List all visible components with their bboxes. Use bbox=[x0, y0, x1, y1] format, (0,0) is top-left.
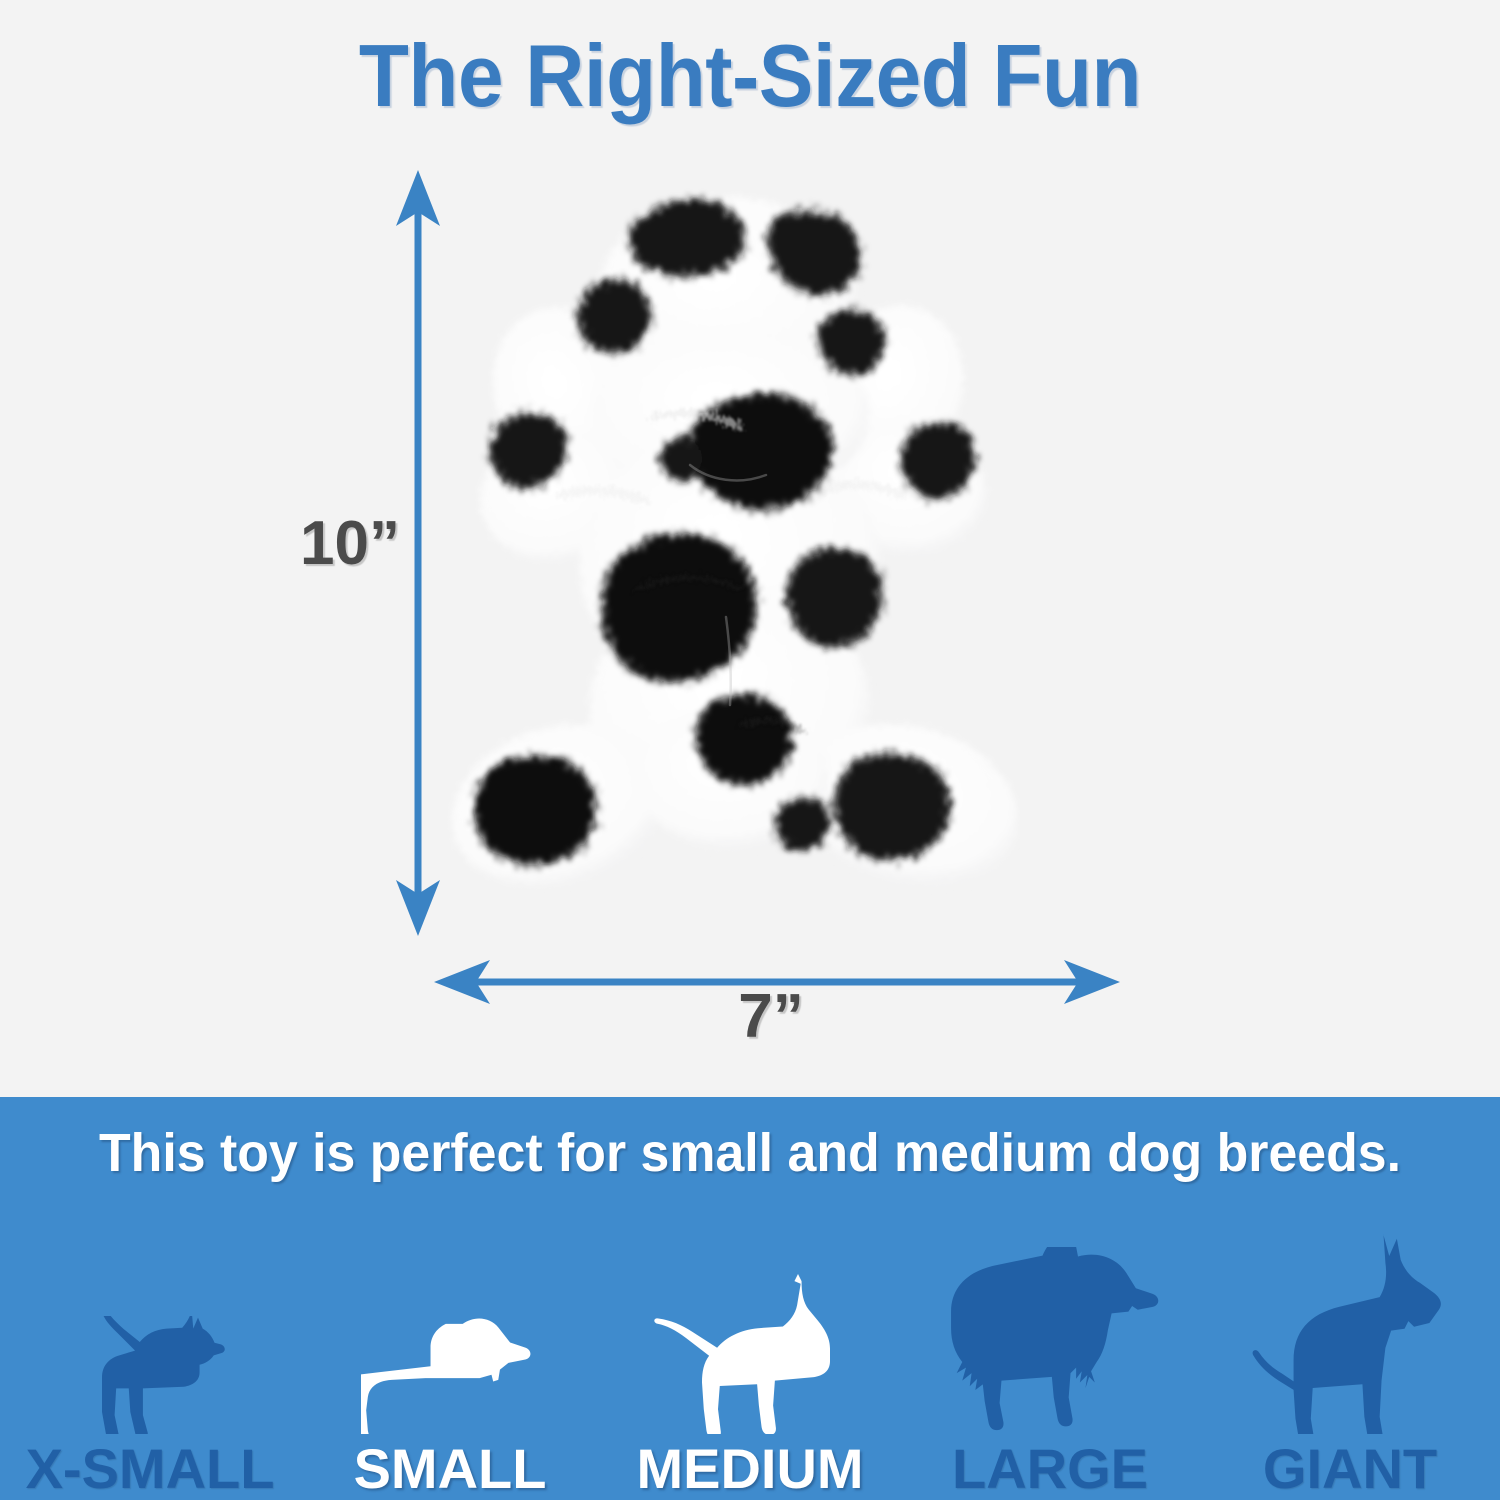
size-item-large[interactable]: LARGE bbox=[900, 1207, 1200, 1500]
banner-headline: This toy is perfect for small and medium… bbox=[30, 1123, 1470, 1183]
size-label-giant: GIANT bbox=[1263, 1438, 1437, 1500]
size-label-large: LARGE bbox=[952, 1438, 1148, 1500]
chihuahua-silhouette-icon bbox=[75, 1222, 225, 1434]
dog-size-scale: X-SMALL SMALL MEDIUM bbox=[0, 1207, 1500, 1500]
bull-terrier-silhouette-icon bbox=[652, 1222, 848, 1434]
size-compatibility-banner: This toy is perfect for small and medium… bbox=[0, 1097, 1500, 1500]
product-stage: The Right-Sized Fun bbox=[0, 0, 1500, 1097]
width-label-text: 7” bbox=[738, 982, 803, 1051]
size-item-medium[interactable]: MEDIUM bbox=[600, 1207, 900, 1500]
golden-retriever-silhouette-icon bbox=[938, 1222, 1162, 1434]
size-item-giant[interactable]: GIANT bbox=[1200, 1207, 1500, 1500]
size-item-small[interactable]: SMALL bbox=[300, 1207, 600, 1500]
size-label-medium: MEDIUM bbox=[636, 1438, 863, 1500]
dachshund-silhouette-icon bbox=[361, 1222, 539, 1434]
size-label-small: SMALL bbox=[354, 1438, 547, 1500]
height-label: 10” bbox=[300, 513, 400, 575]
width-label: 7” bbox=[0, 986, 1500, 1048]
size-item-x-small[interactable]: X-SMALL bbox=[0, 1207, 300, 1500]
size-label-x-small: X-SMALL bbox=[26, 1438, 275, 1500]
great-dane-silhouette-icon bbox=[1240, 1222, 1460, 1434]
page-title: The Right-Sized Fun bbox=[53, 28, 1448, 124]
product-infographic: The Right-Sized Fun bbox=[0, 0, 1500, 1500]
product-image bbox=[440, 165, 1020, 925]
